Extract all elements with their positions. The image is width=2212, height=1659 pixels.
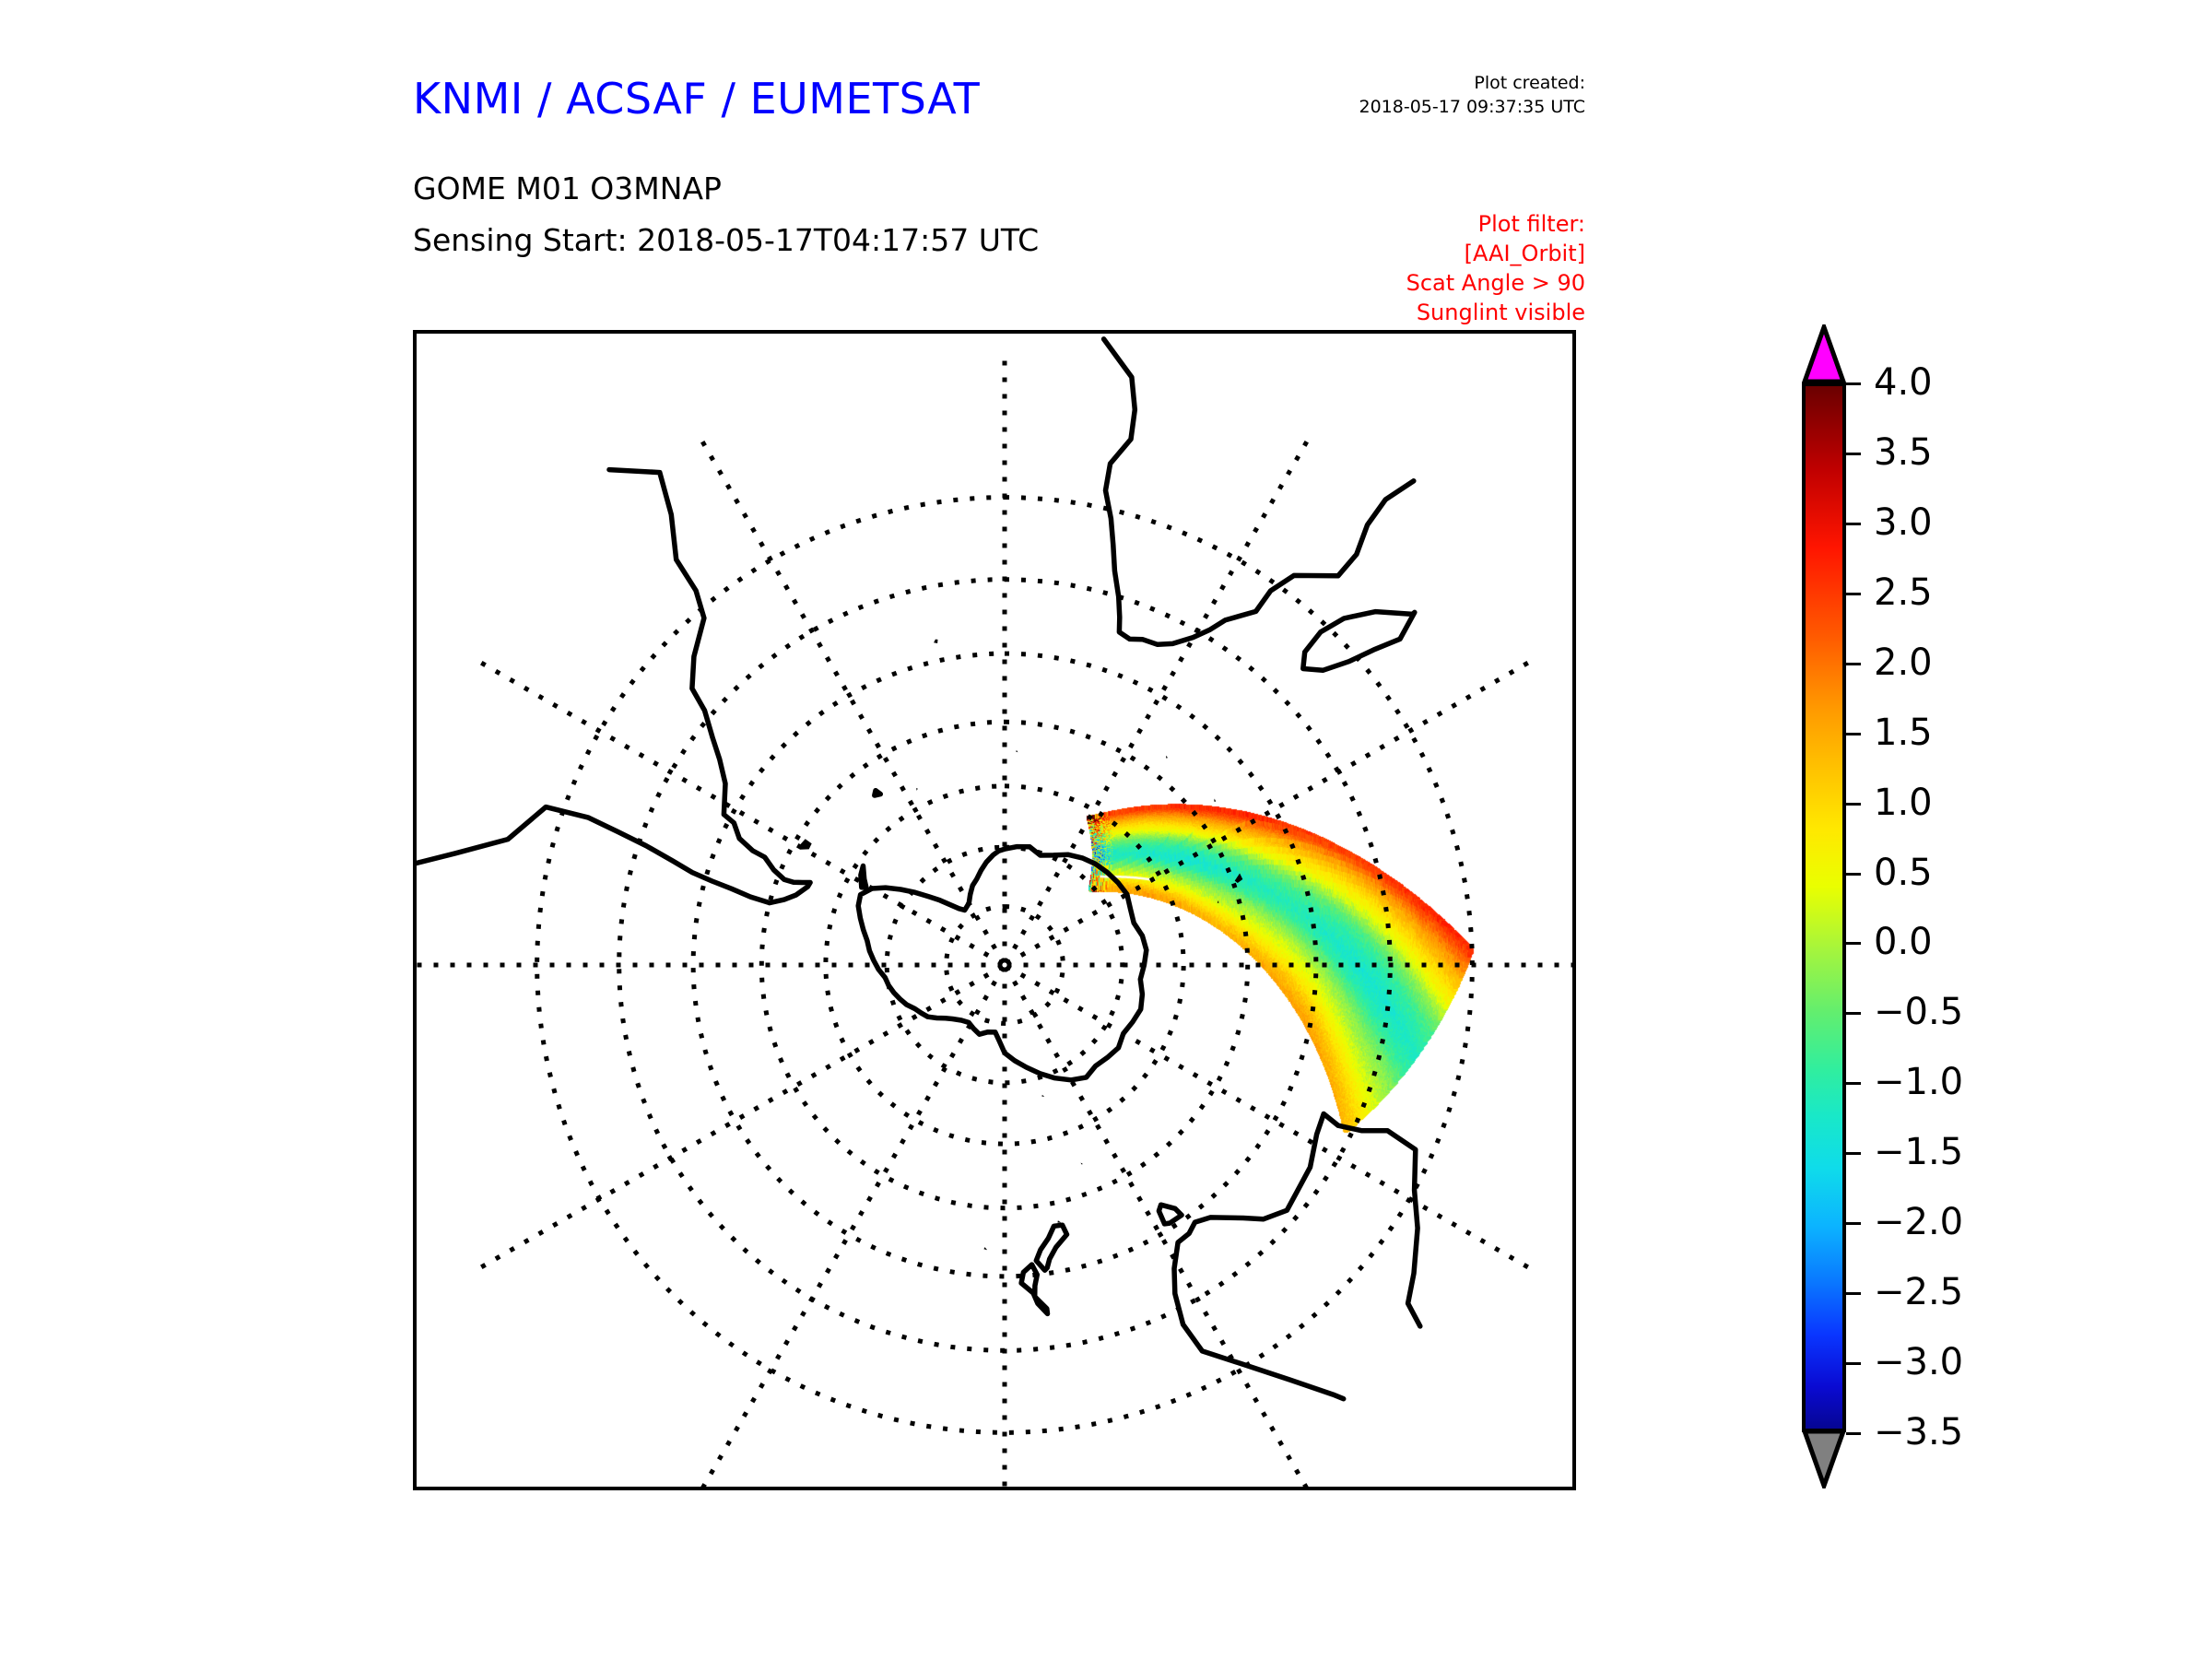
page-title: KNMI / ACSAF / EUMETSAT <box>413 74 980 124</box>
colorbar-tick-label: 4.0 <box>1874 364 1933 401</box>
graticule-lines <box>417 353 1572 1487</box>
coastline-s_america <box>417 470 810 903</box>
island-kerguelen <box>1235 874 1243 884</box>
coastline-africa <box>1104 339 1414 644</box>
colorbar-tick-label: 0.0 <box>1874 924 1933 960</box>
island-crozet <box>1214 799 1216 802</box>
colorbar-tick-label: 2.0 <box>1874 644 1933 681</box>
island-bouvet <box>1016 750 1018 752</box>
colorbar-tick <box>1846 453 1861 455</box>
colorbar-tick <box>1846 523 1861 525</box>
island-balleny <box>1041 1095 1044 1097</box>
colorbar-tick <box>1846 382 1861 385</box>
colorbar-tick-label: −2.5 <box>1874 1274 1963 1311</box>
colorbar-tick-label: 0.5 <box>1874 854 1933 891</box>
colorbar: 4.03.53.02.52.01.51.00.50.0−0.5−1.0−1.5−… <box>1802 324 2189 1495</box>
island-falkland <box>801 839 812 849</box>
colorbar-tick <box>1846 1362 1861 1365</box>
colorbar-tick-label: 1.5 <box>1874 714 1933 751</box>
plot-created-block: Plot created: 2018-05-17 09:37:35 UTC <box>1318 72 1585 119</box>
colorbar-tick <box>1846 873 1861 876</box>
island-sandwich <box>916 788 918 791</box>
colorbar-under-arrow <box>1802 1430 1846 1488</box>
colorbar-tick-label: 3.5 <box>1874 434 1933 471</box>
colorbar-tick <box>1846 1152 1861 1155</box>
island-macquarie <box>1080 1163 1082 1165</box>
sensing-start: Sensing Start: 2018-05-17T04:17:57 UTC <box>413 222 1039 258</box>
map-graticule-and-coastlines <box>417 334 1572 1487</box>
colorbar-tick-label: −3.0 <box>1874 1344 1963 1381</box>
colorbar-tick-label: 2.5 <box>1874 574 1933 611</box>
plot-created-timestamp: 2018-05-17 09:37:35 UTC <box>1318 96 1585 120</box>
plot-created-label: Plot created: <box>1318 72 1585 96</box>
colorbar-tick <box>1846 803 1861 806</box>
colorbar-tick <box>1846 1012 1861 1015</box>
colorbar-tick-label: −0.5 <box>1874 994 1963 1030</box>
island-stewart <box>1057 1220 1061 1222</box>
island-heard <box>1218 900 1219 903</box>
colorbar-tick-label: −3.5 <box>1874 1414 1963 1451</box>
coastline-madagascar <box>1303 612 1415 671</box>
coastline-australia <box>1174 1114 1420 1399</box>
colorbar-tick-label: −2.0 <box>1874 1204 1963 1241</box>
colorbar-gradient <box>1802 382 1846 1432</box>
island-tristan <box>934 640 937 643</box>
colorbar-tick <box>1846 1082 1861 1085</box>
colorbar-tick <box>1846 1432 1861 1435</box>
plot-filter-label: Plot filter: <box>1318 210 1585 240</box>
colorbar-tick-label: 3.0 <box>1874 504 1933 541</box>
coastline-paths <box>417 339 1420 1399</box>
colorbar-tick <box>1846 663 1861 665</box>
product-name: GOME M01 O3MNAP <box>413 171 722 206</box>
map-plot-area <box>413 330 1576 1490</box>
island-marion <box>1166 756 1168 759</box>
coastline-tasmania <box>1159 1205 1182 1224</box>
colorbar-tick <box>1846 593 1861 595</box>
colorbar-tick <box>1846 1222 1861 1225</box>
axes-title: AAI [-] <box>0 274 2212 316</box>
coastline-s_georgia_arc <box>875 791 881 795</box>
colorbar-tick-label: 1.0 <box>1874 784 1933 821</box>
coastline-s_shetland <box>861 866 866 888</box>
colorbar-tick-label: −1.0 <box>1874 1064 1963 1100</box>
colorbar-tick-label: −1.5 <box>1874 1134 1963 1171</box>
island-chatham <box>983 1247 987 1250</box>
plot-filter-orbit: [AAI_Orbit] <box>1318 240 1585 269</box>
colorbar-tick <box>1846 1292 1861 1295</box>
colorbar-tick <box>1846 733 1861 735</box>
coastline-nz_south <box>1036 1225 1066 1270</box>
colorbar-over-arrow <box>1802 324 1846 383</box>
colorbar-tick <box>1846 942 1861 945</box>
